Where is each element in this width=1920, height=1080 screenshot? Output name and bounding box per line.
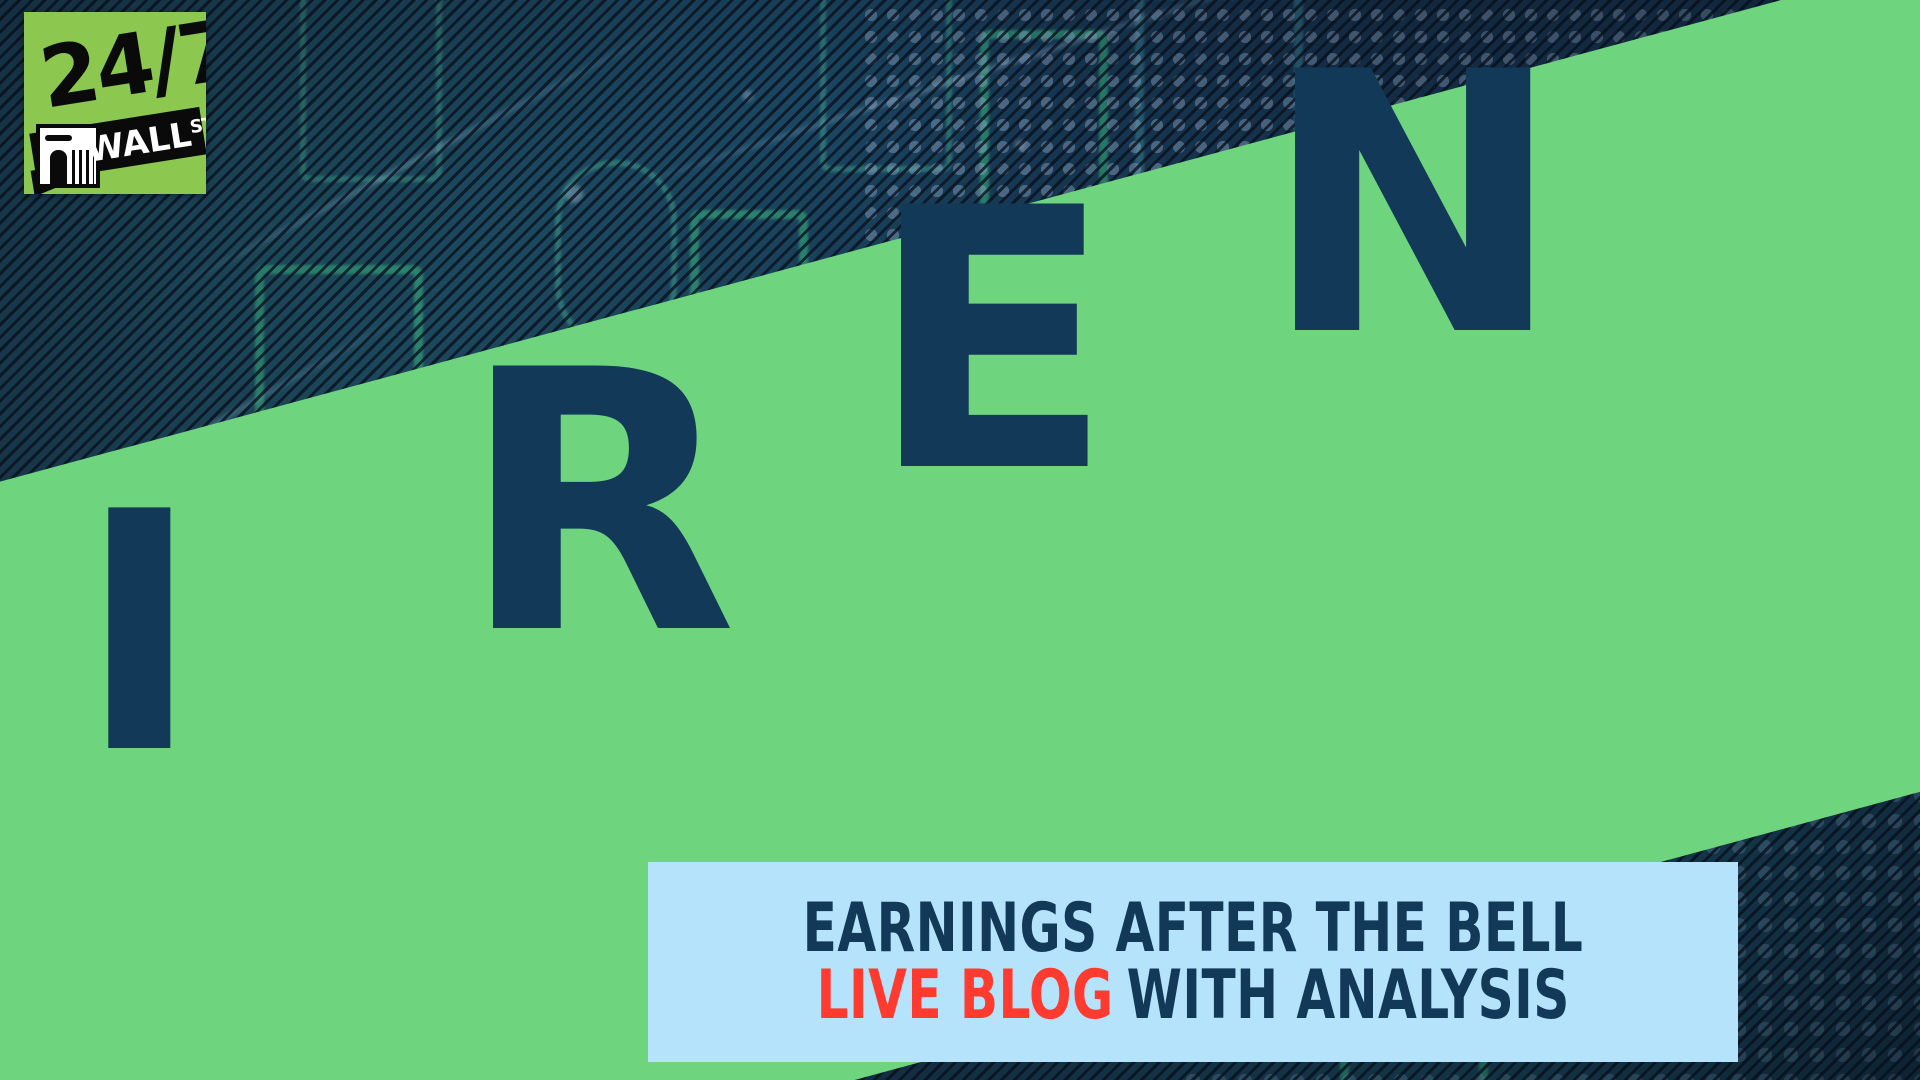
banner-line-1: EARNINGS AFTER THE BELL bbox=[803, 896, 1584, 961]
banner-line-2: LIVE BLOG WITH ANALYSIS bbox=[816, 963, 1569, 1028]
brand-logo[interactable]: 24/7 WALLST bbox=[24, 12, 206, 194]
bottom-banner: EARNINGS AFTER THE BELL LIVE BLOG WITH A… bbox=[648, 862, 1738, 1062]
logo-247-text: 24/7 bbox=[35, 12, 206, 121]
logo-st-word: ST bbox=[188, 114, 206, 138]
hero-image: I R E N 24/7 WALLST EARNINGS AFTER THE B… bbox=[0, 0, 1920, 1080]
with-analysis-text: WITH ANALYSIS bbox=[1126, 963, 1569, 1028]
live-blog-highlight: LIVE BLOG bbox=[816, 963, 1113, 1028]
